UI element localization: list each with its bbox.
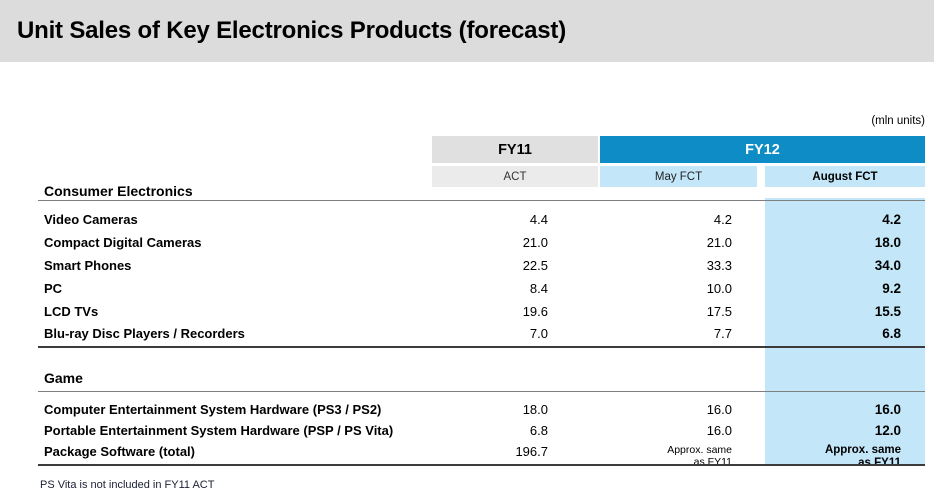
table-row: Blu-ray Disc Players / Recorders 7.0 7.7…: [0, 324, 934, 344]
row-value-may: 16.0: [600, 421, 732, 441]
row-value-august: 4.2: [765, 210, 901, 230]
row-label: Blu-ray Disc Players / Recorders: [44, 324, 245, 344]
row-value-august-line2: as FY11: [858, 457, 901, 469]
row-value-may: 7.7: [600, 324, 732, 344]
row-value-act: 196.7: [432, 442, 548, 462]
row-label: PC: [44, 279, 62, 299]
row-value-august: Approx. same as FY11: [765, 444, 901, 470]
row-value-august: 34.0: [765, 256, 901, 276]
table-row: Compact Digital Cameras 21.0 21.0 18.0: [0, 233, 934, 253]
row-value-act: 22.5: [432, 256, 548, 276]
units-note: (mln units): [871, 115, 925, 127]
row-value-may: 33.3: [600, 256, 732, 276]
row-value-august: 16.0: [765, 400, 901, 420]
row-value-may: 17.5: [600, 302, 732, 322]
table-row: Computer Entertainment System Hardware (…: [0, 400, 934, 420]
row-label: LCD TVs: [44, 302, 98, 322]
row-value-august: 9.2: [765, 279, 901, 299]
section-rule-consumer-electronics: [38, 200, 925, 201]
table-row: LCD TVs 19.6 17.5 15.5: [0, 302, 934, 322]
row-value-may: 21.0: [600, 233, 732, 253]
footnote: PS Vita is not included in FY11 ACT: [40, 479, 214, 491]
row-value-may: 4.2: [600, 210, 732, 230]
column-header-fy12: FY12: [600, 136, 925, 163]
row-label: Package Software (total): [44, 442, 195, 462]
column-subheader-act: ACT: [432, 166, 598, 187]
row-value-act: 4.4: [432, 210, 548, 230]
row-value-august: 12.0: [765, 421, 901, 441]
table-row: PC 8.4 10.0 9.2: [0, 279, 934, 299]
row-value-august: 15.5: [765, 302, 901, 322]
table-row: Portable Entertainment System Hardware (…: [0, 421, 934, 441]
row-value-act: 19.6: [432, 302, 548, 322]
column-header-fy11: FY11: [432, 136, 598, 163]
section-title-consumer-electronics: Consumer Electronics: [44, 183, 193, 199]
row-value-act: 18.0: [432, 400, 548, 420]
row-value-august: 18.0: [765, 233, 901, 253]
row-value-act: 7.0: [432, 324, 548, 344]
section-end-rule-consumer-electronics: [38, 346, 925, 348]
row-label: Smart Phones: [44, 256, 131, 276]
row-label: Video Cameras: [44, 210, 138, 230]
row-value-act: 21.0: [432, 233, 548, 253]
sales-table: (mln units) FY11 FY12 ACT May FCT August…: [0, 0, 934, 495]
table-end-rule: [38, 464, 925, 466]
row-value-may: 10.0: [600, 279, 732, 299]
section-title-game: Game: [44, 370, 83, 386]
row-value-act: 6.8: [432, 421, 548, 441]
row-label: Compact Digital Cameras: [44, 233, 202, 253]
table-row: Package Software (total) 196.7 Approx. s…: [0, 442, 934, 472]
row-value-may: 16.0: [600, 400, 732, 420]
column-subheader-may-fct: May FCT: [600, 166, 757, 187]
section-rule-game: [38, 391, 925, 392]
row-label: Computer Entertainment System Hardware (…: [44, 400, 381, 420]
table-row: Smart Phones 22.5 33.3 34.0: [0, 256, 934, 276]
row-value-act: 8.4: [432, 279, 548, 299]
row-value-may-line2: as FY11: [694, 456, 732, 468]
row-value-may-line1: Approx. same: [667, 444, 732, 456]
table-row: Video Cameras 4.4 4.2 4.2: [0, 210, 934, 230]
column-subheader-august-fct: August FCT: [765, 166, 925, 187]
row-label: Portable Entertainment System Hardware (…: [44, 421, 393, 441]
row-value-august-line1: Approx. same: [825, 444, 901, 456]
row-value-august: 6.8: [765, 324, 901, 344]
